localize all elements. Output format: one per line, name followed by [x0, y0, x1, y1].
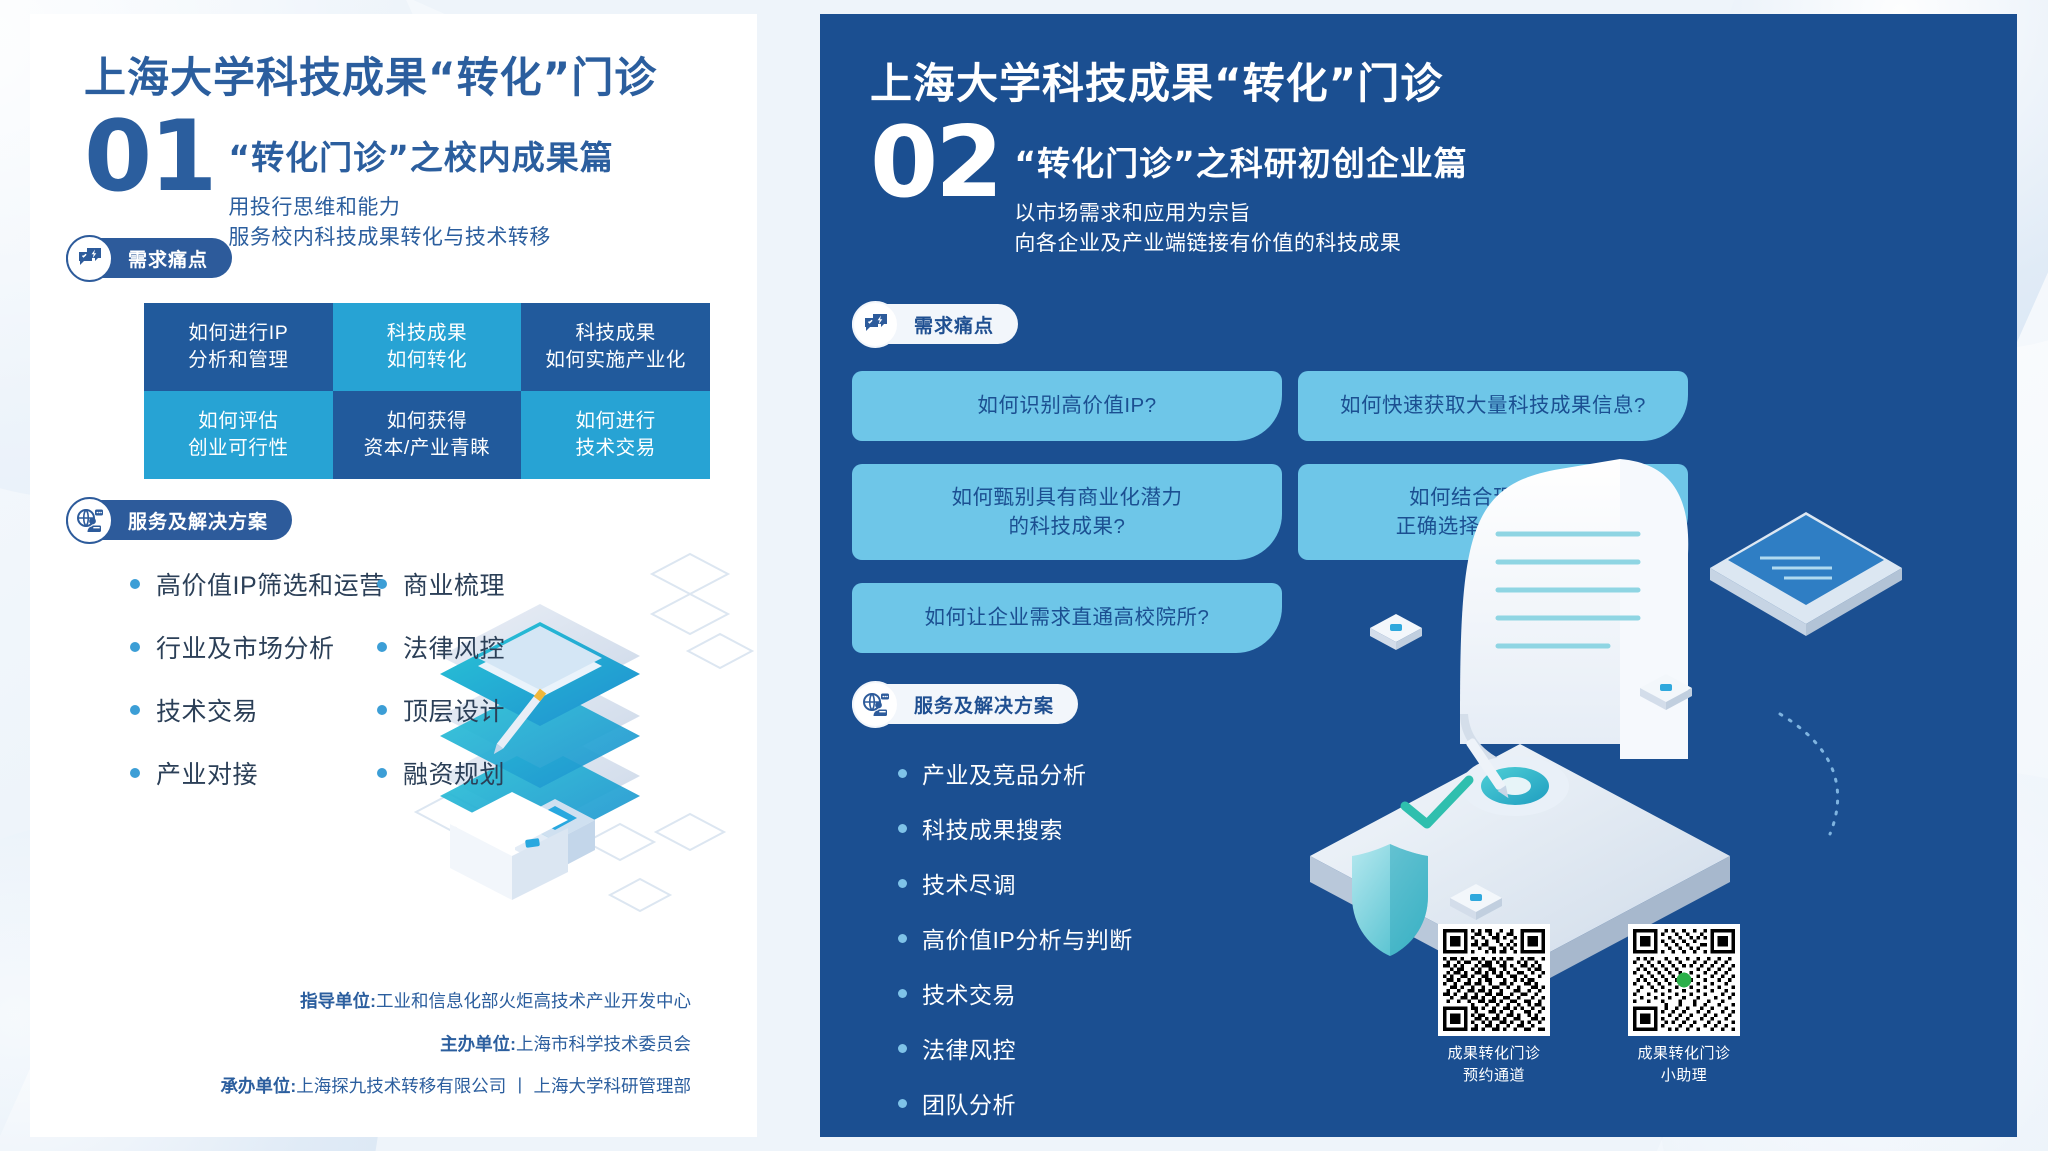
- list-item: 技术尽调: [898, 866, 1133, 900]
- list-item-label: 技术尽调: [922, 866, 1016, 900]
- credit-value: 上海市科学技术委员会: [516, 1034, 691, 1054]
- list-item-label: 技术交易: [922, 976, 1016, 1010]
- table-cell: 科技成果 如何实施产业化: [521, 303, 710, 391]
- right-pain-point-badge: 需求痛点: [852, 302, 1018, 346]
- bullet-dot: [898, 1044, 907, 1053]
- credit-value: 工业和信息化部火炬高技术产业开发中心: [376, 991, 691, 1011]
- left-service-list-col-1: 高价值IP筛选和运营 行业及市场分析 技术交易 产业对接: [130, 566, 385, 818]
- table-cell: 如何评估 创业可行性: [144, 391, 333, 479]
- table-cell-line-2: 分析和管理: [188, 347, 289, 374]
- speech-bubble-lightning-icon: [852, 301, 899, 348]
- table-cell-line-1: 如何评估: [198, 408, 278, 435]
- right-subtitle: “转化门诊”之科研初创企业篇: [1014, 137, 1467, 185]
- list-item: 法律风控: [377, 629, 505, 665]
- bullet-dot: [130, 642, 140, 652]
- left-service-badge: 服务及解决方案: [66, 498, 292, 542]
- list-item-label: 行业及市场分析: [156, 629, 335, 665]
- table-cell: 如何进行 技术交易: [521, 391, 710, 479]
- pain-bubble-line-1: 如何让企业需求直通高校院所?: [925, 603, 1210, 632]
- list-item: 融资规划: [377, 755, 505, 791]
- left-main-title: 上海大学科技成果“转化”门诊: [84, 44, 724, 105]
- right-main-title: 上海大学科技成果“转化”门诊: [870, 50, 1970, 111]
- pain-bubble: 如何结合现有产业 正确选择“升级”方向?: [1298, 464, 1688, 560]
- table-cell: 科技成果 如何转化: [333, 303, 522, 391]
- left-credits: 指导单位:工业和信息化部火炬高技术产业开发中心 主办单位:上海市科学技术委员会 …: [70, 990, 691, 1099]
- table-cell: 如何进行IP 分析和管理: [144, 303, 333, 391]
- left-subtitle: “转化门诊”之校内成果篇: [228, 131, 613, 179]
- table-cell-line-2: 技术交易: [575, 435, 655, 462]
- list-item-label: 高价值IP筛选和运营: [156, 566, 385, 602]
- table-cell-line-1: 科技成果: [575, 320, 655, 347]
- list-item: 商业梳理: [377, 566, 505, 602]
- list-item: 技术交易: [898, 976, 1133, 1010]
- pain-bubble-line-2: 正确选择“升级”方向?: [1396, 512, 1591, 541]
- panel-02-research-startups: 上海大学科技成果“转化”门诊 02 “转化门诊”之科研初创企业篇 以市场需求和应…: [820, 14, 2017, 1137]
- credit-row: 主办单位:上海市科学技术委员会: [70, 1033, 691, 1057]
- bullet-dot: [377, 642, 387, 652]
- pain-bubble-line-1: 如何识别高价值IP?: [977, 391, 1156, 420]
- list-item-label: 科技成果搜索: [922, 811, 1063, 845]
- list-item: 顶层设计: [377, 692, 505, 728]
- credit-row: 指导单位:工业和信息化部火炬高技术产业开发中心: [70, 990, 691, 1014]
- right-service-badge: 服务及解决方案: [852, 682, 1078, 726]
- bullet-dot: [377, 705, 387, 715]
- table-cell-line-2: 资本/产业青睐: [364, 435, 491, 462]
- list-item-label: 顶层设计: [403, 692, 505, 728]
- left-pain-point-badge: 需求痛点: [66, 236, 232, 280]
- table-cell-line-1: 如何进行IP: [188, 320, 288, 347]
- bullet-dot: [377, 579, 387, 589]
- list-item: 法律风控: [898, 1031, 1133, 1065]
- table-cell-line-1: 科技成果: [387, 320, 467, 347]
- appointment-qr-block: 成果转化门诊 预约通道: [1438, 924, 1550, 1087]
- right-service-list: 产业及竞品分析 科技成果搜索 技术尽调 高价值IP分析与判断 技术交易 法律风控…: [898, 756, 1133, 1137]
- list-item: 科技成果搜索: [898, 811, 1133, 845]
- list-item-label: 商业梳理: [403, 566, 505, 602]
- bullet-dot: [377, 768, 387, 778]
- table-cell-line-2: 创业可行性: [188, 435, 289, 462]
- assistant-qr-block: 成果转化门诊 小助理: [1628, 924, 1740, 1087]
- bullet-dot: [898, 879, 907, 888]
- credit-label: 承办单位:: [220, 1076, 296, 1096]
- credit-row: 承办单位:上海探九技术转移有限公司 丨 上海大学科研管理部: [70, 1075, 691, 1099]
- bullet-dot: [130, 768, 140, 778]
- qr-caption-line-1: 成果转化门诊: [1628, 1043, 1740, 1065]
- pain-bubble: 如何甄别具有商业化潜力 的科技成果?: [852, 464, 1282, 560]
- list-item: 产业及竞品分析: [898, 756, 1133, 790]
- list-item-label: 融资规划: [403, 755, 505, 791]
- list-item-label: 团队分析: [922, 1086, 1016, 1120]
- pain-bubble-line-1: 如何结合现有产业: [1396, 483, 1591, 512]
- pain-bubble: 如何识别高价值IP?: [852, 371, 1282, 441]
- qr-caption-line-1: 成果转化门诊: [1438, 1043, 1550, 1065]
- bullet-dot: [898, 1099, 907, 1108]
- bullet-dot: [130, 705, 140, 715]
- panel-01-campus-achievements: 上海大学科技成果“转化”门诊 01 “转化门诊”之校内成果篇 用投行思维和能力 …: [30, 14, 757, 1137]
- list-item-label: 高价值IP分析与判断: [922, 921, 1133, 955]
- pain-bubble: 如何快速获取大量科技成果信息?: [1298, 371, 1688, 441]
- globe-person-folder-icon: [852, 681, 899, 728]
- bullet-dot: [130, 579, 140, 589]
- list-item: 团队分析: [898, 1086, 1133, 1120]
- table-cell-line-1: 如何获得: [387, 408, 467, 435]
- list-item: 技术交易: [130, 692, 385, 728]
- list-item: 高价值IP分析与判断: [898, 921, 1133, 955]
- qr-caption-line-2: 小助理: [1628, 1065, 1740, 1087]
- assistant-qr[interactable]: [1628, 924, 1740, 1036]
- pain-bubble-line-1: 如何甄别具有商业化潜力: [952, 483, 1183, 512]
- right-tagline-line-1: 以市场需求和应用为宗旨: [1014, 199, 1467, 229]
- table-cell-line-2: 如何转化: [387, 347, 467, 374]
- qr-caption-line-2: 预约通道: [1438, 1065, 1550, 1087]
- list-item: 行业及市场分析: [130, 629, 385, 665]
- table-cell: 如何获得 资本/产业青睐: [333, 391, 522, 479]
- left-pain-point-table: 如何进行IP 分析和管理 科技成果 如何转化 科技成果 如何实施产业化 如何评估…: [144, 303, 710, 479]
- table-cell-line-1: 如何进行: [575, 408, 655, 435]
- list-item: 产业对接: [130, 755, 385, 791]
- table-cell-line-2: 如何实施产业化: [545, 347, 686, 374]
- list-item-label: 法律风控: [403, 629, 505, 665]
- list-item-label: 产业对接: [156, 755, 258, 791]
- list-item-label: 法律风控: [922, 1031, 1016, 1065]
- bullet-dot: [898, 934, 907, 943]
- list-item-label: 产业及竞品分析: [922, 756, 1087, 790]
- credit-value: 上海探九技术转移有限公司 丨 上海大学科研管理部: [296, 1076, 691, 1096]
- bullet-dot: [898, 769, 907, 778]
- right-tagline-line-2: 向各企业及产业端链接有价值的科技成果: [1014, 229, 1467, 259]
- bullet-dot: [898, 824, 907, 833]
- pain-bubble: 如何让企业需求直通高校院所?: [852, 583, 1282, 653]
- globe-person-folder-icon: [66, 497, 113, 544]
- bullet-dot: [898, 989, 907, 998]
- speech-bubble-lightning-icon: [66, 235, 113, 282]
- left-tagline-line-1: 用投行思维和能力: [228, 193, 613, 223]
- right-section-number: 02: [870, 123, 1000, 203]
- pain-bubble-line-2: 的科技成果?: [952, 512, 1183, 541]
- list-item: 高价值IP筛选和运营: [130, 566, 385, 602]
- left-tagline-line-2: 服务校内科技成果转化与技术转移: [228, 223, 613, 253]
- left-section-number: 01: [84, 117, 214, 197]
- credit-label: 指导单位:: [300, 991, 376, 1011]
- appointment-qr[interactable]: [1438, 924, 1550, 1036]
- pain-bubble-line-1: 如何快速获取大量科技成果信息?: [1340, 391, 1646, 420]
- credit-label: 主办单位:: [440, 1034, 516, 1054]
- list-item-label: 技术交易: [156, 692, 258, 728]
- left-service-list-col-2: 商业梳理 法律风控 顶层设计 融资规划: [377, 566, 505, 818]
